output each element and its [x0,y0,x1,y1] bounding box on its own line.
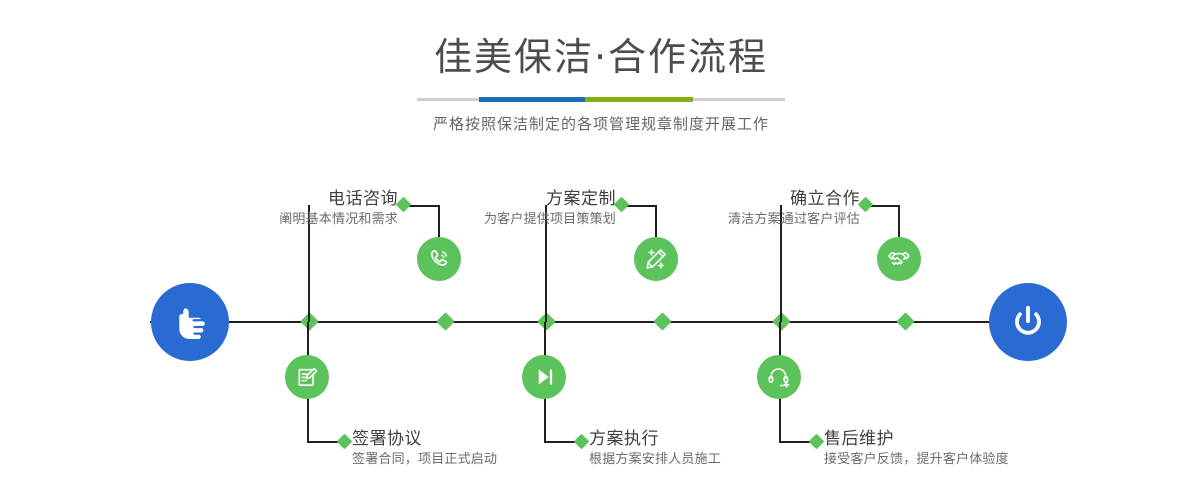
play-execute-icon [531,364,557,390]
axis-marker-4 [653,312,671,330]
page-header: 佳美保洁·合作流程 严格按照保洁制定的各项管理规章制度开展工作 [0,0,1202,134]
connector-stem-5b [898,205,900,237]
timeline-end-node[interactable] [989,283,1067,361]
axis-marker-6 [896,312,914,330]
divider-segment-green [585,97,693,102]
page-title: 佳美保洁·合作流程 [0,0,1202,76]
phone-call-icon [426,246,452,272]
pencil-plan-icon [643,246,669,272]
title-divider [417,98,785,101]
timeline-axis [150,321,1060,323]
pointing-hand-icon [168,300,212,344]
step-icon-circle-3[interactable] [634,237,678,281]
step-label-3: 方案定制 为客户提供项目策策划 [356,188,616,230]
power-button-icon [1006,300,1050,344]
label-marker-5 [858,197,874,213]
divider-segment-blue [479,97,585,102]
step-icon-circle-2[interactable] [285,355,329,399]
step-icon-circle-5[interactable] [877,237,921,281]
document-sign-icon [294,364,320,390]
step-icon-circle-1[interactable] [417,237,461,281]
headset-support-icon [766,364,792,390]
step-label-6: 售后维护 接受客户反馈，提升客户体验度 [824,428,1144,470]
page-subtitle: 严格按照保洁制定的各项管理规章制度开展工作 [0,101,1202,134]
flow-diagram: 佳美保洁·合作流程 严格按照保洁制定的各项管理规章制度开展工作 [0,0,1202,502]
step-icon-circle-6[interactable] [757,355,801,399]
step-label-5: 确立合作 清洁方案通过客户评估 [600,188,860,230]
axis-marker-2 [436,312,454,330]
label-marker-2 [337,434,353,450]
handshake-icon [886,246,912,272]
timeline-start-node[interactable] [151,283,229,361]
step-icon-circle-4[interactable] [522,355,566,399]
